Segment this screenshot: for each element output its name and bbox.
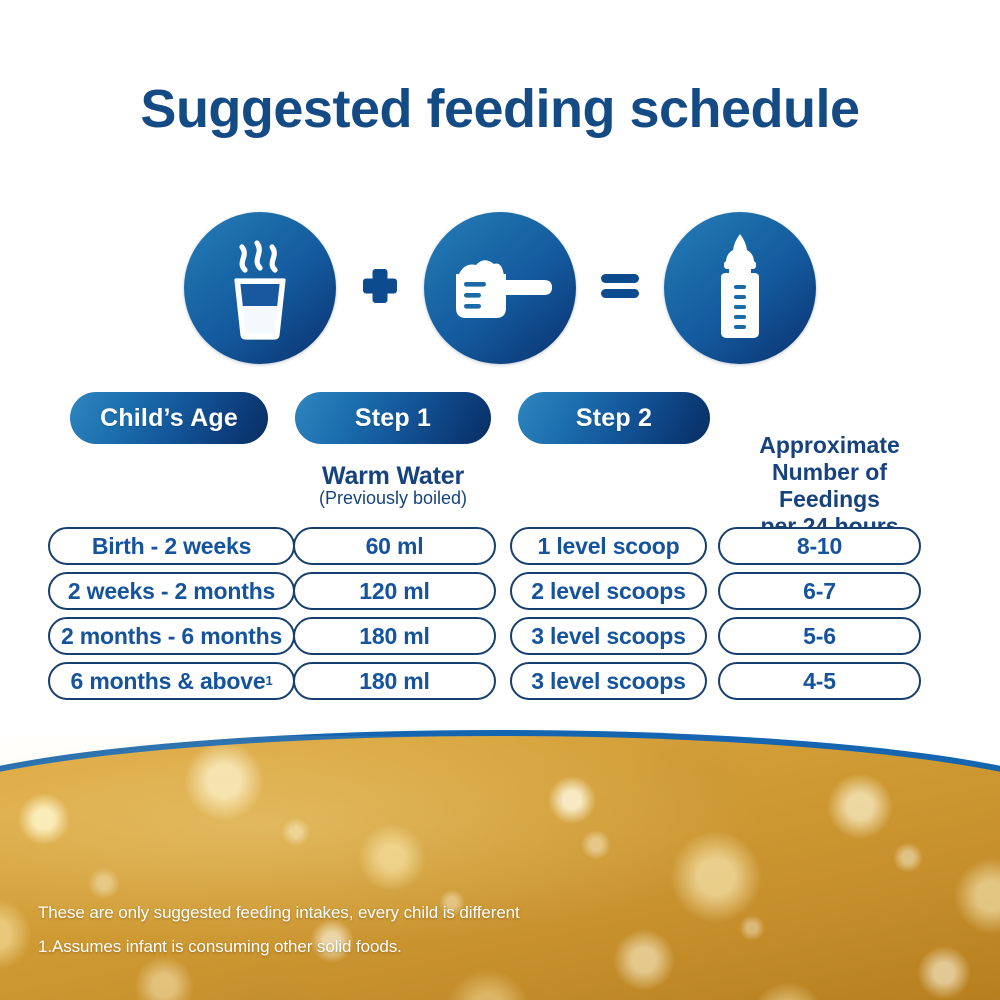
column-header-childs-age: Child’s Age xyxy=(70,392,268,444)
cell-age: 2 weeks - 2 months xyxy=(48,572,295,610)
equals-icon xyxy=(598,271,642,301)
feeding-schedule-infographic: Suggested feeding schedule xyxy=(0,0,1000,1000)
cell-water: 120 ml xyxy=(293,572,496,610)
footnote-line-2: 1.Assumes infant is consuming other soli… xyxy=(38,930,520,964)
table-row: 2 weeks - 2 months 120 ml 2 level scoops… xyxy=(0,572,1000,610)
cell-feedings: 5-6 xyxy=(718,617,921,655)
warm-water-glass-icon xyxy=(184,212,336,364)
gold-footer-band: These are only suggested feeding intakes… xyxy=(0,730,1000,1000)
cell-scoops: 3 level scoops xyxy=(510,617,707,655)
table-row: 2 months - 6 months 180 ml 3 level scoop… xyxy=(0,617,1000,655)
cell-scoops: 1 level scoop xyxy=(510,527,707,565)
cell-age: 2 months - 6 months xyxy=(48,617,295,655)
baby-bottle-icon xyxy=(664,212,816,364)
cell-age: Birth - 2 weeks xyxy=(48,527,295,565)
table-row: 6 months & above1 180 ml 3 level scoops … xyxy=(0,662,1000,700)
cell-feedings: 4-5 xyxy=(718,662,921,700)
plus-icon xyxy=(358,266,402,306)
column-header-step-2: Step 2 xyxy=(518,392,710,444)
preparation-equation xyxy=(0,205,1000,370)
page-title: Suggested feeding schedule xyxy=(0,78,1000,140)
feeding-schedule-table: Birth - 2 weeks 60 ml 1 level scoop 8-10… xyxy=(0,527,1000,707)
feedings-line-2: Number of Feedings xyxy=(722,459,937,513)
cell-scoops: 2 level scoops xyxy=(510,572,707,610)
formula-scoop-icon xyxy=(424,212,576,364)
column-header-step-1: Step 1 xyxy=(295,392,491,444)
cell-age: 6 months & above1 xyxy=(48,662,295,700)
feedings-line-1: Approximate xyxy=(722,432,937,459)
column-header-feedings: Approximate Number of Feedings per 24 ho… xyxy=(722,432,937,540)
step1-subtitle: Warm Water (Previously boiled) xyxy=(295,463,491,508)
cell-water: 60 ml xyxy=(293,527,496,565)
cell-scoops: 3 level scoops xyxy=(510,662,707,700)
cell-water: 180 ml xyxy=(293,617,496,655)
footnote-line-1: These are only suggested feeding intakes… xyxy=(38,896,520,930)
step1-subtitle-main: Warm Water xyxy=(295,463,491,489)
table-row: Birth - 2 weeks 60 ml 1 level scoop 8-10 xyxy=(0,527,1000,565)
footnotes: These are only suggested feeding intakes… xyxy=(38,896,520,964)
cell-water: 180 ml xyxy=(293,662,496,700)
step1-subtitle-note: (Previously boiled) xyxy=(295,489,491,508)
cell-feedings: 6-7 xyxy=(718,572,921,610)
cell-feedings: 8-10 xyxy=(718,527,921,565)
